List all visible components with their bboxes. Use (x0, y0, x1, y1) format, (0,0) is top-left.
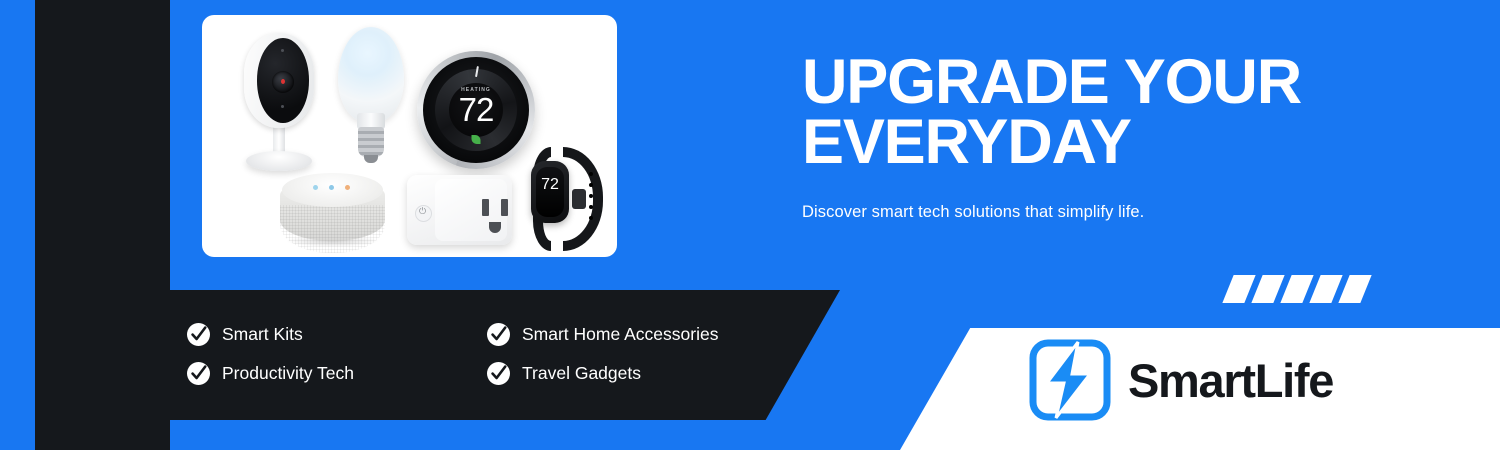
check-circle-icon (486, 322, 511, 347)
checklist-item-label: Smart Home Accessories (522, 324, 718, 345)
subheadline: Discover smart tech solutions that simpl… (802, 203, 1442, 222)
stripe (1251, 275, 1284, 303)
product-image-card: HEATING 72 (202, 15, 617, 257)
power-icon (415, 205, 432, 222)
checklist-item-label: Smart Kits (222, 324, 303, 345)
brand-wordmark: SmartLife (1128, 353, 1333, 408)
promo-banner: HEATING 72 (0, 0, 1500, 450)
brand-logo: SmartLife (1028, 338, 1333, 422)
checklist-item-label: Productivity Tech (222, 363, 354, 384)
smart-plug-image (407, 175, 512, 247)
fitness-band-image: 72 (517, 145, 607, 253)
eco-leaf-icon (472, 135, 481, 144)
thermostat-temperature: 72 (423, 93, 529, 126)
list-item: Smart Kits (186, 322, 486, 347)
smart-speaker-image (280, 165, 385, 250)
dark-vertical-bar (35, 0, 170, 450)
check-circle-icon (186, 361, 211, 386)
lightning-bolt-icon (1028, 338, 1112, 422)
diagonal-stripes-decoration (1228, 275, 1378, 303)
page-title: UPGRADE YOUR EVERYDAY (802, 52, 1442, 173)
list-item: Productivity Tech (186, 361, 486, 386)
stripe (1309, 275, 1342, 303)
left-blue-strip (0, 0, 35, 450)
headline-line-2: EVERYDAY (802, 112, 1442, 172)
check-circle-icon (186, 322, 211, 347)
smart-led-bulb-image (335, 27, 407, 167)
feature-checklist: Smart Kits Smart Home Accessories Produc… (186, 322, 786, 386)
checklist-item-label: Travel Gadgets (522, 363, 641, 384)
stripe (1222, 275, 1255, 303)
check-circle-icon (486, 361, 511, 386)
smart-security-camera-image (240, 33, 318, 173)
stripe (1338, 275, 1371, 303)
list-item: Smart Home Accessories (486, 322, 786, 347)
hero-copy: UPGRADE YOUR EVERYDAY Discover smart tec… (802, 52, 1442, 222)
stripe (1280, 275, 1313, 303)
list-item: Travel Gadgets (486, 361, 786, 386)
fitness-band-value: 72 (536, 177, 564, 193)
